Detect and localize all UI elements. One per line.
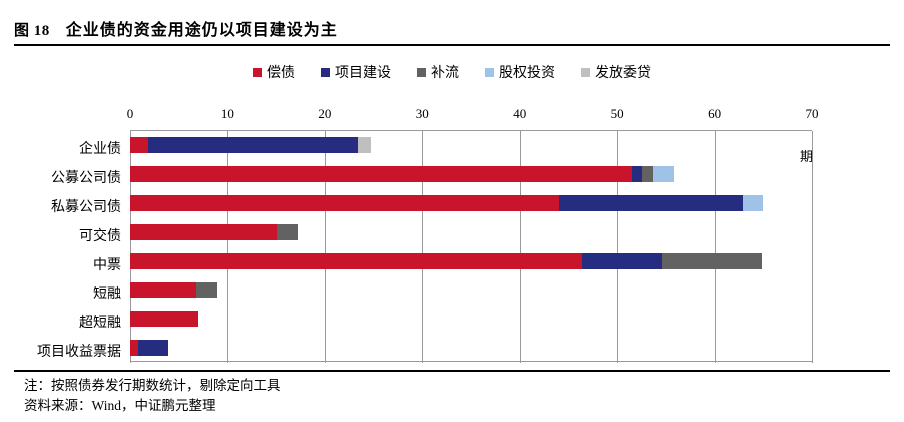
footnote-statistic: 注：按照债券发行期数统计，剔除定向工具 <box>24 376 884 396</box>
bar-segment-股权投资[interactable] <box>653 166 673 182</box>
bar-segment-偿债[interactable] <box>130 224 277 240</box>
category-label-1: 企业债 <box>0 138 126 158</box>
bar-segment-偿债[interactable] <box>130 195 559 211</box>
category-label-7: 超短融 <box>0 312 126 332</box>
bar-segment-补流[interactable] <box>196 282 216 298</box>
footer-divider <box>14 370 890 372</box>
bar-segment-补流[interactable] <box>642 166 653 182</box>
bar-segment-偿债[interactable] <box>130 340 138 356</box>
x-tick-label-70: 70 <box>806 106 819 122</box>
chart-plot-area: 010203040506070 期 企业债公募公司债私募公司债可交债中票短融超短… <box>0 0 904 422</box>
x-tick-label-30: 30 <box>416 106 429 122</box>
chart-bars <box>130 130 812 362</box>
category-label-4: 可交债 <box>0 225 126 245</box>
bar-segment-偿债[interactable] <box>130 137 148 153</box>
category-label-2: 公募公司债 <box>0 167 126 187</box>
x-tick-label-0: 0 <box>127 106 134 122</box>
bar-segment-偿债[interactable] <box>130 166 632 182</box>
x-tick-label-50: 50 <box>611 106 624 122</box>
figure-footnotes: 注：按照债券发行期数统计，剔除定向工具 资料来源：Wind，中证鹏元整理 <box>24 376 884 416</box>
footnote-source: 资料来源：Wind，中证鹏元整理 <box>24 396 884 416</box>
category-label-3: 私募公司债 <box>0 196 126 216</box>
bar-segment-项目建设[interactable] <box>148 137 358 153</box>
bar-segment-项目建设[interactable] <box>559 195 743 211</box>
category-label-5: 中票 <box>0 254 126 274</box>
category-label-6: 短融 <box>0 283 126 303</box>
bar-segment-项目建设[interactable] <box>138 340 168 356</box>
x-axis-tick-labels: 010203040506070 <box>0 106 904 124</box>
bar-segment-股权投资[interactable] <box>743 195 763 211</box>
gridline-70 <box>812 131 813 363</box>
bar-segment-补流[interactable] <box>662 253 762 269</box>
bar-segment-偿债[interactable] <box>130 311 198 327</box>
x-tick-label-20: 20 <box>318 106 331 122</box>
bar-segment-偿债[interactable] <box>130 253 582 269</box>
bar-segment-项目建设[interactable] <box>632 166 643 182</box>
x-tick-label-10: 10 <box>221 106 234 122</box>
category-label-8: 项目收益票据 <box>0 341 126 361</box>
x-tick-label-60: 60 <box>708 106 721 122</box>
bar-segment-偿债[interactable] <box>130 282 196 298</box>
bar-segment-补流[interactable] <box>277 224 297 240</box>
x-tick-label-40: 40 <box>513 106 526 122</box>
bar-segment-发放委贷[interactable] <box>358 137 371 153</box>
bar-segment-项目建设[interactable] <box>582 253 662 269</box>
